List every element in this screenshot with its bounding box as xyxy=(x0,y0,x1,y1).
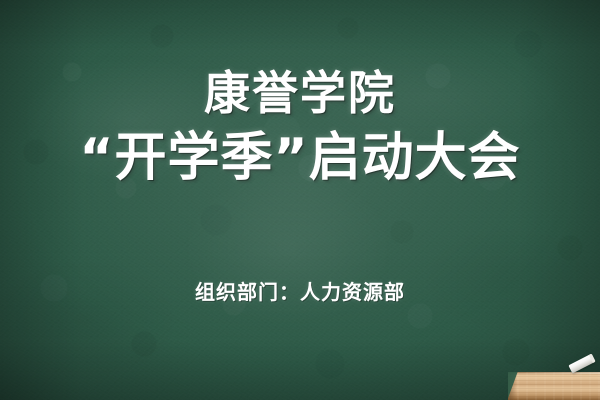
slide-subtitle-organizing-department: 组织部门：人力资源部 xyxy=(0,276,600,305)
slide-title-line-2: “开学季”启动大会 xyxy=(0,132,600,184)
chalk-ledge-icon xyxy=(508,372,600,400)
ledge-top-highlight xyxy=(508,372,600,374)
slide-content: 康誉学院 “开学季”启动大会 组织部门：人力资源部 xyxy=(0,0,600,400)
chalkboard-title-slide: 康誉学院 “开学季”启动大会 组织部门：人力资源部 xyxy=(0,0,600,400)
ledge-wood-grain xyxy=(508,372,600,400)
slide-title-line-1: 康誉学院 xyxy=(0,70,600,116)
